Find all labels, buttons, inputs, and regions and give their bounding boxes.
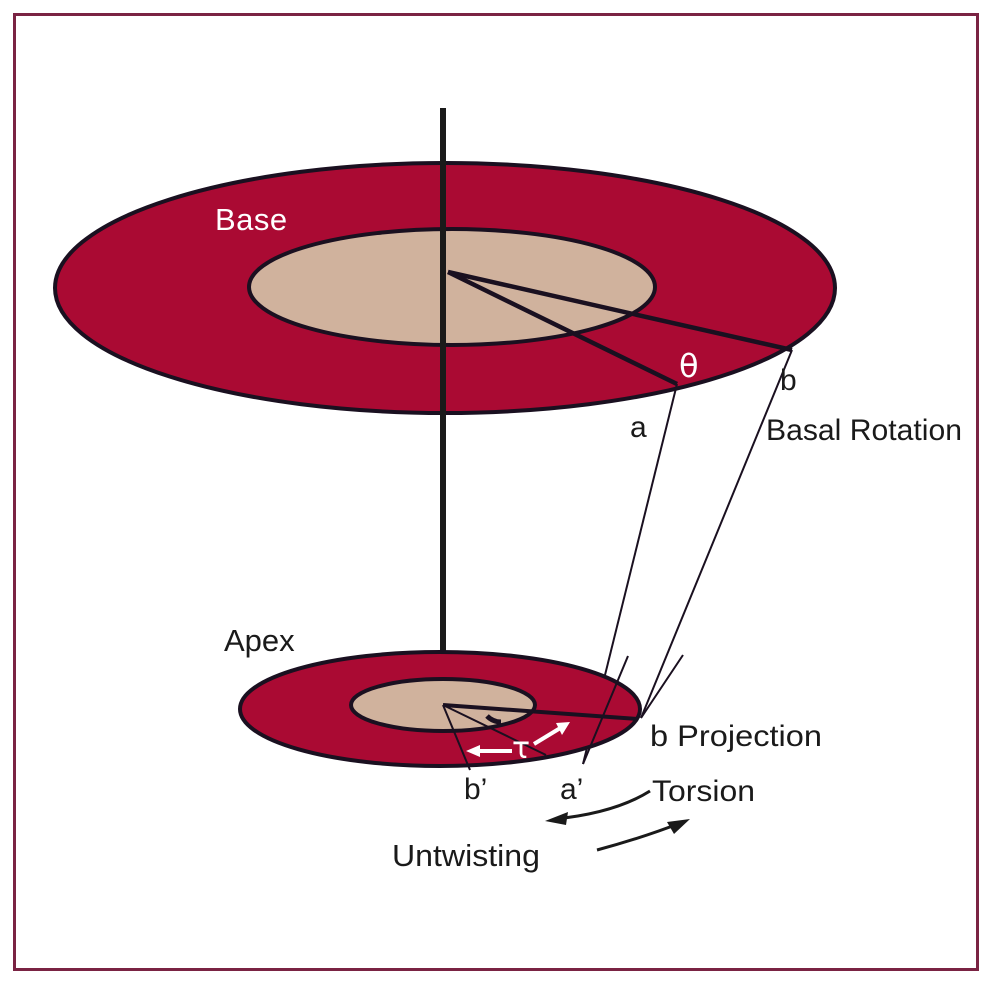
label-apex: Apex [224,623,295,658]
label-torsion: Torsion [652,775,755,808]
torsion-diagram-canvas: Base Apex θ τ a b b’ a’ Basal Rotation b… [0,0,995,991]
label-a: a [630,411,647,444]
projection-line-b [641,350,792,718]
base-cavity [249,229,655,345]
label-b-prime: b’ [464,773,487,806]
label-untwisting: Untwisting [392,838,540,873]
label-b: b [780,364,797,397]
label-b-projection: b Projection [650,720,822,753]
label-theta: θ [679,347,699,385]
apex-disk-group [240,652,640,766]
untwisting-arrow-icon [597,819,690,850]
label-tau: τ [512,731,530,766]
figure-frame [15,15,978,970]
label-basal-rotation: Basal Rotation [766,414,962,447]
label-base: Base [215,202,288,237]
figure-root: Base Apex θ τ a b b’ a’ Basal Rotation b… [0,0,995,991]
label-a-prime: a’ [560,773,583,806]
